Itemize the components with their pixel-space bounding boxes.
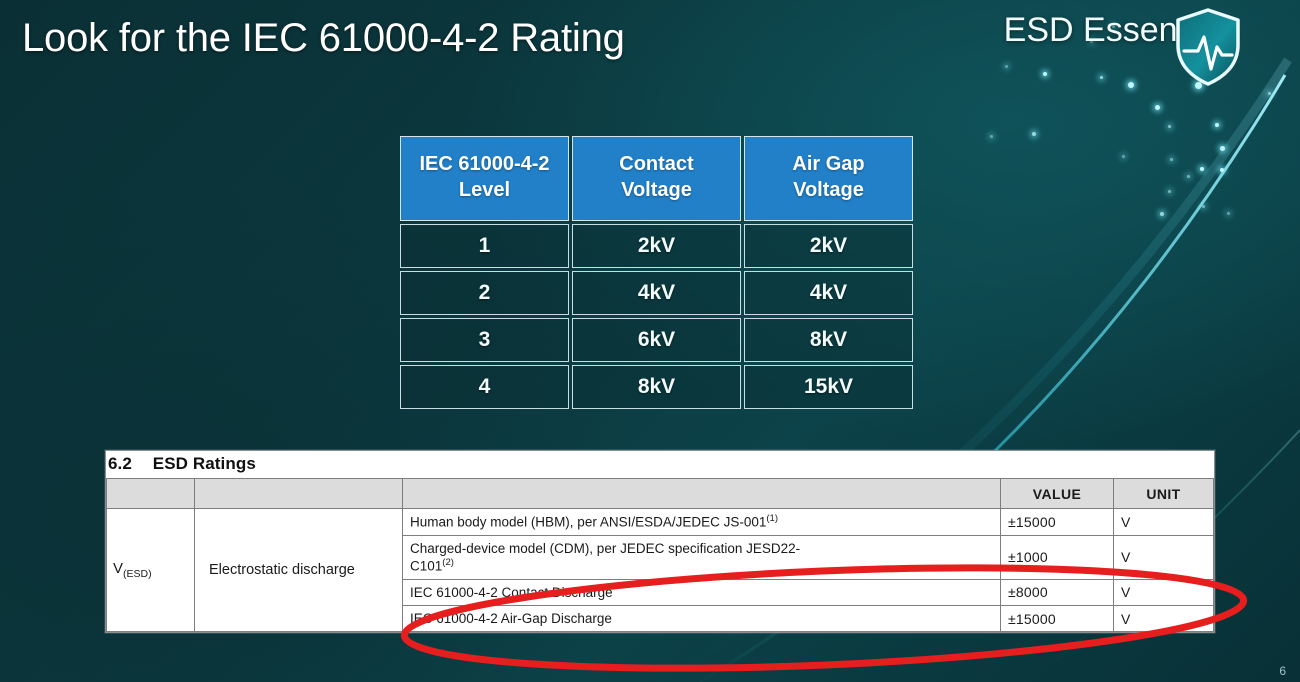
star-dot [1100, 76, 1103, 79]
cell-level: 4 [400, 365, 569, 409]
cell-parameter: Electrostatic discharge [195, 509, 403, 632]
cell-contact: 6kV [572, 318, 741, 362]
star-dot [1168, 190, 1171, 193]
column-header-parameter [195, 479, 403, 509]
table-row: 4 8kV 15kV [400, 365, 913, 409]
star-dot [1220, 146, 1225, 151]
star-dot [1170, 158, 1173, 161]
cell-value: ±15000 [1001, 509, 1114, 536]
shield-pulse-icon [1172, 7, 1244, 87]
cell-contact: 4kV [572, 271, 741, 315]
symbol-subscript: (ESD) [123, 568, 152, 580]
table-row: 2 4kV 4kV [400, 271, 913, 315]
cell-description: IEC 61000-4-2 Air-Gap Discharge [403, 606, 1001, 632]
cell-level: 1 [400, 224, 569, 268]
cell-value: ±1000 [1001, 535, 1114, 579]
star-dot [1043, 72, 1047, 76]
cell-level: 2 [400, 271, 569, 315]
column-header-contact-voltage: Contact Voltage [572, 136, 741, 221]
slide-canvas: Look for the IEC 61000-4-2 Rating ESD Es… [0, 0, 1300, 682]
brand-lockup: ESD Essentials [1004, 11, 1238, 50]
cell-unit: V [1114, 535, 1214, 579]
star-dot [1215, 123, 1219, 127]
section-number: 6.2 [108, 454, 132, 473]
cell-value: ±8000 [1001, 579, 1114, 605]
table-row: 1 2kV 2kV [400, 224, 913, 268]
cell-description: IEC 61000-4-2 Contact Discharge [403, 579, 1001, 605]
cell-airgap: 2kV [744, 224, 913, 268]
star-dot [1155, 105, 1160, 110]
table-header-row: IEC 61000-4-2 Level Contact Voltage Air … [400, 136, 913, 221]
cell-symbol: V(ESD) [107, 509, 195, 632]
page-number: 6 [1279, 664, 1286, 678]
star-dot [1122, 155, 1125, 158]
star-dot [1005, 65, 1008, 68]
cell-level: 3 [400, 318, 569, 362]
star-dot [990, 135, 993, 138]
column-header-value: VALUE [1001, 479, 1114, 509]
star-dot [1187, 175, 1190, 178]
cell-description: Charged-device model (CDM), per JEDEC sp… [403, 535, 1001, 579]
section-title: ESD Ratings [153, 454, 256, 473]
star-dot [1128, 82, 1134, 88]
cell-airgap: 8kV [744, 318, 913, 362]
datasheet-excerpt: 6.2 ESD Ratings VALUE UNIT V(ESD) [105, 450, 1215, 633]
cell-unit: V [1114, 579, 1214, 605]
column-header-air-gap-voltage: Air Gap Voltage [744, 136, 913, 221]
star-dot [1168, 125, 1171, 128]
table-row: V(ESD) Electrostatic discharge Human bod… [107, 509, 1214, 536]
page-title: Look for the IEC 61000-4-2 Rating [22, 16, 625, 61]
star-dot [1200, 167, 1204, 171]
footnote-marker: (2) [442, 557, 454, 568]
cell-unit: V [1114, 606, 1214, 632]
cell-airgap: 4kV [744, 271, 913, 315]
cell-contact: 2kV [572, 224, 741, 268]
datasheet-section-heading: 6.2 ESD Ratings [106, 451, 1214, 478]
esd-ratings-table: VALUE UNIT V(ESD) Electrostatic discharg… [106, 478, 1214, 632]
iec-level-table: IEC 61000-4-2 Level Contact Voltage Air … [397, 133, 916, 412]
column-header-symbol [107, 479, 195, 509]
cell-value: ±15000 [1001, 606, 1114, 632]
column-header-description [403, 479, 1001, 509]
column-header-unit: UNIT [1114, 479, 1214, 509]
star-dot [1268, 92, 1271, 95]
cell-airgap: 15kV [744, 365, 913, 409]
footnote-marker: (1) [766, 513, 778, 524]
column-header-level: IEC 61000-4-2 Level [400, 136, 569, 221]
star-dot [1227, 212, 1230, 215]
table-row: 3 6kV 8kV [400, 318, 913, 362]
star-dot [1160, 212, 1164, 216]
cell-unit: V [1114, 509, 1214, 536]
star-dot [1220, 168, 1224, 172]
table-header-row: VALUE UNIT [107, 479, 1214, 509]
cell-contact: 8kV [572, 365, 741, 409]
cell-description: Human body model (HBM), per ANSI/ESDA/JE… [403, 509, 1001, 536]
star-dot [1032, 132, 1036, 136]
star-dot [1202, 205, 1205, 208]
